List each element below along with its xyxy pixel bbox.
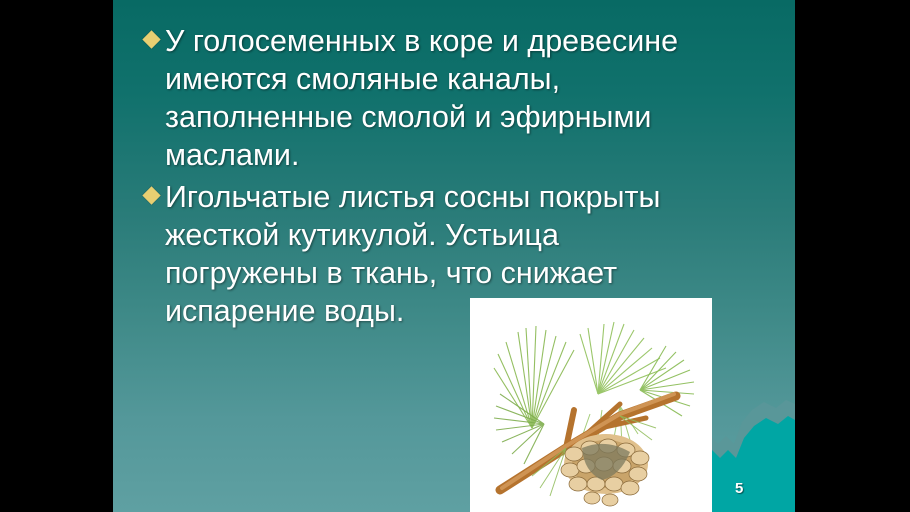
page-number: 5 <box>735 480 743 497</box>
diamond-bullet-icon <box>142 186 160 204</box>
presentation-slide: У голосеменных в коре и древесине имеютс… <box>113 0 795 512</box>
letterbox-bar-right <box>795 0 910 512</box>
slide-body-text: У голосеменных в коре и древесине имеютс… <box>145 22 793 334</box>
bullet-item: У голосеменных в коре и древесине имеютс… <box>145 22 793 174</box>
slide-viewer: У голосеменных в коре и древесине имеютс… <box>0 0 910 512</box>
diamond-bullet-icon <box>142 30 160 48</box>
bullet-line: Игольчатые листья сосны покрыты <box>165 178 793 216</box>
bullet-line: маслами. <box>165 136 793 174</box>
bullet-line: заполненные смолой и эфирными <box>165 98 793 136</box>
bullet-line: жесткой кутикулой. Устьица <box>165 216 793 254</box>
bullet-line: имеются смоляные каналы, <box>165 60 793 98</box>
bullet-text: У голосеменных в коре и древесине имеютс… <box>165 22 793 174</box>
bullet-line: погружены в ткань, что снижает <box>165 254 793 292</box>
pine-branch-image <box>470 298 712 512</box>
letterbox-bar-left <box>0 0 113 512</box>
bullet-line: У голосеменных в коре и древесине <box>165 22 793 60</box>
